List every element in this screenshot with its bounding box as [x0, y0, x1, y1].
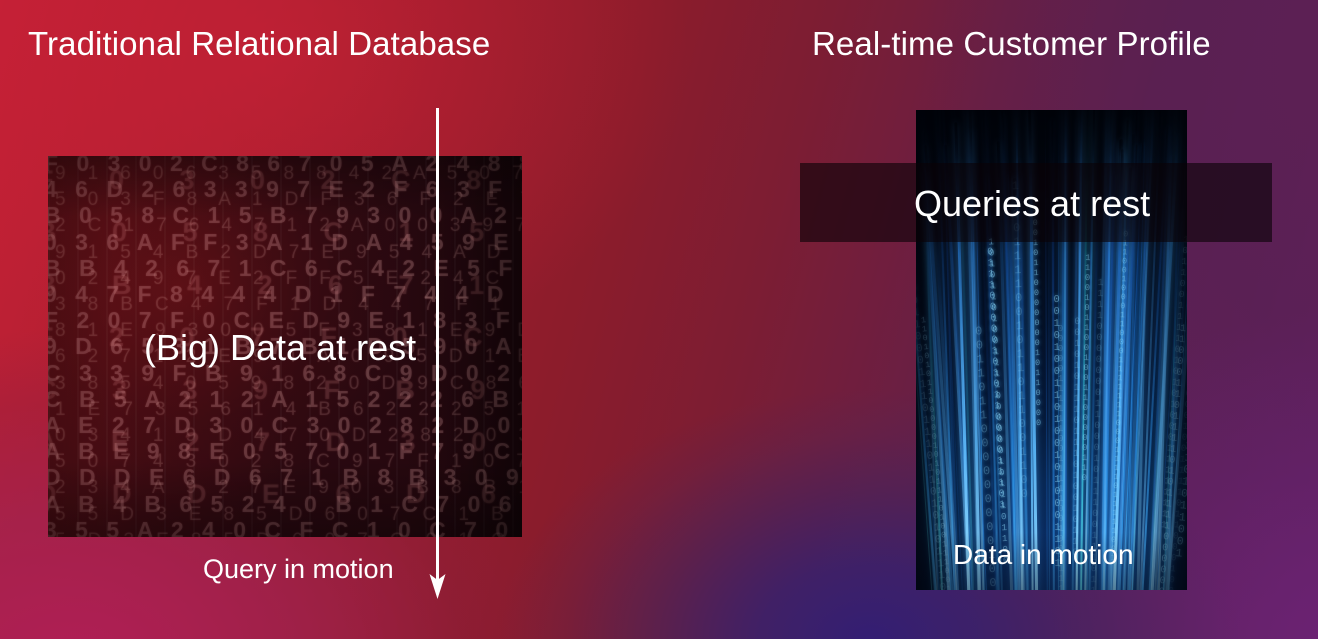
page-title-left: Traditional Relational Database — [28, 26, 490, 62]
slide-canvas: Traditional Relational Database Real-tim… — [0, 0, 1318, 639]
caption-queries-at-rest: Queries at rest — [914, 186, 1150, 222]
page-title-right: Real-time Customer Profile — [812, 26, 1211, 62]
caption-data-at-rest: (Big) Data at rest — [144, 330, 416, 366]
caption-query-in-motion: Query in motion — [203, 556, 394, 583]
caption-data-in-motion: Data in motion — [953, 541, 1134, 569]
query-in-motion-arrow-icon — [424, 104, 452, 604]
